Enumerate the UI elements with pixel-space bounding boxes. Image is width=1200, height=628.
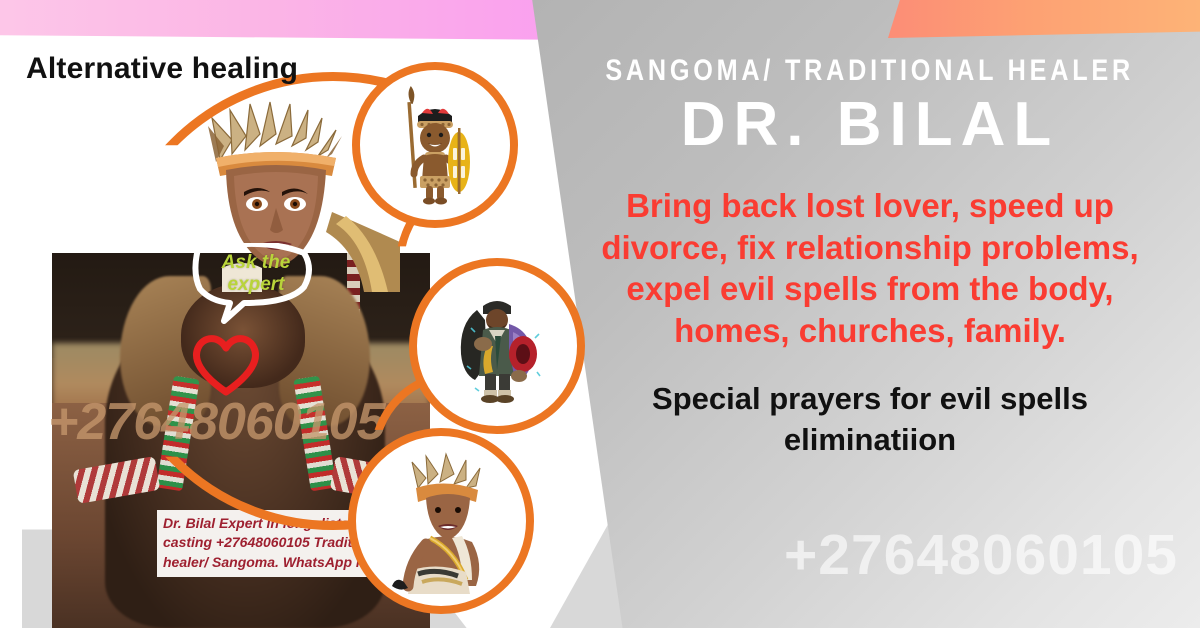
poster-canvas: Alternative healing [0, 0, 1200, 628]
sangoma-kicker-heading: SANGOMA/ TRADITIONAL HEALER [606, 56, 1135, 86]
services-description: Bring back lost lover, speed up divorce,… [570, 185, 1170, 351]
badge-robed-healer[interactable] [409, 258, 585, 434]
alternative-healing-heading: Alternative healing [26, 52, 298, 86]
crouching-warrior-icon [366, 446, 516, 596]
ask-the-expert-label: Ask the expert [208, 252, 304, 297]
pink-accent-bar [0, 0, 600, 40]
badge-zulu-warrior[interactable] [352, 62, 518, 228]
zulu-warrior-icon [370, 80, 500, 210]
doctor-name-heading: DR. BILAL [681, 92, 1060, 157]
heart-icon [190, 330, 262, 396]
badge-crouching-warrior[interactable] [348, 428, 534, 614]
robed-healer-icon [431, 280, 563, 412]
photo-watermark-phone: +27648060105 [48, 392, 385, 452]
special-prayers-text: Special prayers for evil spells eliminat… [590, 379, 1150, 460]
right-content-column: SANGOMA/ TRADITIONAL HEALER DR. BILAL Br… [540, 0, 1200, 628]
